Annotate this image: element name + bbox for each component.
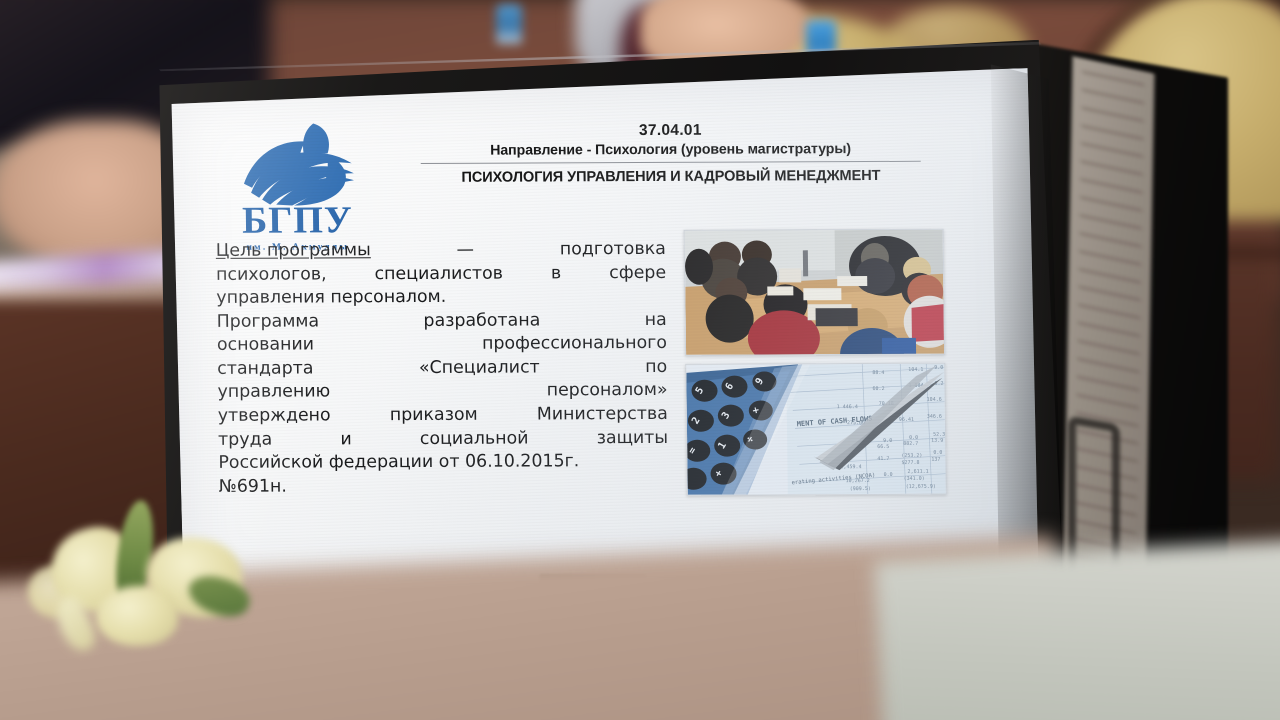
svg-text:$277.8: $277.8 — [901, 460, 919, 466]
svg-text:0.0: 0.0 — [933, 450, 942, 456]
university-logo: БГПУ им. М. Акмуллы — [212, 121, 382, 253]
svg-text:66.5: 66.5 — [877, 444, 889, 450]
program-code: 37.04.01 — [420, 121, 920, 141]
body-word: Программа — [216, 310, 319, 334]
swan-wave-logo-icon — [231, 121, 362, 206]
body-word: в — [551, 262, 562, 286]
svg-text:104.1: 104.1 — [908, 367, 923, 373]
svg-text:882.7: 882.7 — [903, 441, 918, 447]
body-word: стандарта — [217, 357, 314, 381]
body-word: профессионального — [482, 332, 667, 356]
svg-text:346.6: 346.6 — [927, 414, 942, 420]
svg-text:(909.5): (909.5) — [849, 486, 870, 492]
body-line: Российской федерации от 06.10.2015г. — [218, 451, 579, 473]
logo-name-text: БГПУ — [213, 201, 381, 240]
finance-photo: 88.4104.19.0 60.21 0848.2 1 446.470.1810… — [685, 363, 947, 496]
svg-text:41.7: 41.7 — [877, 456, 889, 462]
body-word: основании — [216, 334, 313, 358]
svg-text:0.0: 0.0 — [883, 472, 892, 478]
body-word: персоналом» — [546, 379, 667, 403]
program-title: ПСИХОЛОГИЯ УПРАВЛЕНИЯ И КАДРОВЫЙ МЕНЕДЖМ… — [420, 167, 920, 188]
room-scene: БГПУ им. М. Акмуллы 37.04.01 Направление… — [0, 0, 1280, 720]
body-word: и — [340, 428, 352, 452]
presentation-slide: БГПУ им. М. Акмуллы 37.04.01 Направление… — [170, 68, 1042, 599]
svg-text:9.0: 9.0 — [934, 365, 943, 371]
slide-header: 37.04.01 Направление - Психология (урове… — [420, 121, 921, 188]
foreground-surface — [874, 535, 1280, 720]
svg-text:104.6: 104.6 — [926, 397, 941, 403]
body-word: социальной — [419, 427, 528, 451]
body-word: утверждено — [217, 404, 330, 428]
svg-text:1 446.4: 1 446.4 — [836, 404, 857, 410]
svg-text:88.4: 88.4 — [872, 370, 884, 376]
body-word: специалистов — [374, 262, 503, 286]
svg-text:0.0: 0.0 — [909, 435, 918, 441]
body-word: защиты — [596, 426, 668, 450]
svg-text:52.3: 52.3 — [933, 432, 945, 438]
body-word: на — [644, 308, 666, 332]
slide-body-text: Цель программы — подготовка психологов, … — [215, 238, 668, 499]
program-direction: Направление - Психология (уровень магист… — [420, 141, 920, 159]
body-word: подготовка — [559, 238, 665, 262]
body-word: «Специалист — [419, 356, 540, 380]
svg-text:13.9: 13.9 — [931, 438, 943, 444]
body-word: разработана — [423, 309, 540, 333]
body-word: по — [645, 356, 667, 380]
body-word: сфере — [609, 261, 666, 285]
body-word: Министерства — [536, 403, 667, 427]
meeting-photo — [683, 229, 945, 356]
body-word: управлению — [217, 381, 330, 405]
body-word: приказом — [389, 404, 477, 428]
dash: — — [456, 239, 474, 263]
svg-text:(253.2): (253.2) — [901, 453, 922, 459]
body-word: психологов, — [216, 263, 327, 287]
svg-text:137: 137 — [931, 457, 940, 463]
svg-text:60.2: 60.2 — [872, 386, 884, 392]
svg-text:(341.0): (341.0) — [903, 476, 924, 482]
svg-text:(12,675.9): (12,675.9) — [905, 484, 935, 490]
body-line: №691н. — [218, 476, 286, 496]
header-divider — [420, 161, 920, 164]
goal-label: Цель программы — [215, 239, 370, 263]
svg-text:2,611.1: 2,611.1 — [907, 469, 928, 475]
svg-text:96.41: 96.41 — [899, 417, 914, 423]
body-line: управления персоналом. — [216, 287, 446, 308]
body-word: труда — [218, 428, 272, 452]
water-bottle — [496, 4, 522, 44]
svg-text:9.0: 9.0 — [883, 438, 892, 444]
